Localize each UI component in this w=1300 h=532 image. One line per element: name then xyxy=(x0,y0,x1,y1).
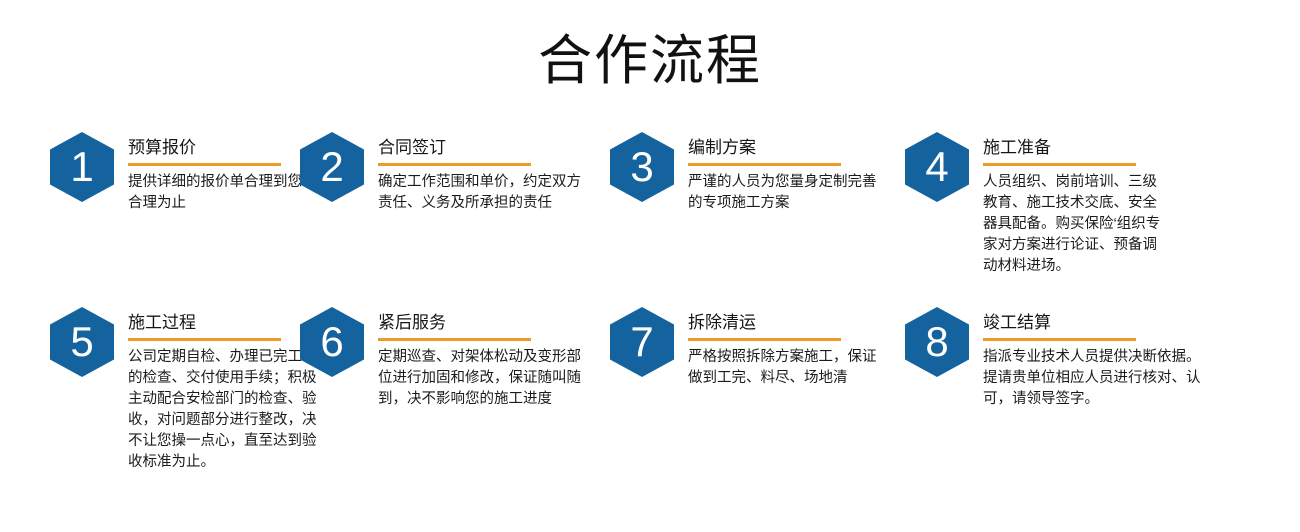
steps-grid: 1 预算报价 提供详细的报价单合理到您认为合理为止 2 合同签订 确定工作范围和… xyxy=(0,132,1300,517)
step-number-5: 5 xyxy=(50,307,114,377)
step-description-8: 指派专业技术人员提供决断依据。提请贵单位相应人员进行核对、认可，请领导签字。 xyxy=(983,347,1208,410)
step-item-7[interactable]: 7 拆除清运 严格按照拆除方案施工，保证做到工完、料尽、场地清 xyxy=(605,307,905,389)
step-divider-7 xyxy=(688,338,841,341)
step-item-2[interactable]: 2 合同签订 确定工作范围和单价，约定双方责任、义务及所承担的责任 xyxy=(300,132,605,214)
step-description-6: 定期巡查、对架体松动及变形部位进行加固和修改，保证随叫随到，决不影响您的施工进度 xyxy=(378,347,588,410)
step-number-8: 8 xyxy=(905,307,969,377)
step-divider-8 xyxy=(983,338,1136,341)
step-divider-3 xyxy=(688,163,841,166)
hexagon-badge-1: 1 xyxy=(50,132,114,202)
step-item-4[interactable]: 4 施工准备 人员组织、岗前培训、三级教育、施工技术交底、安全器具配备。购买保险… xyxy=(905,132,1250,277)
step-item-1[interactable]: 1 预算报价 提供详细的报价单合理到您认为合理为止 xyxy=(0,132,300,214)
steps-row-2: 5 施工过程 公司定期自检、办理已完工程的检查、交付使用手续；积极主动配合安检部… xyxy=(0,307,1300,517)
step-description-7: 严格按照拆除方案施工，保证做到工完、料尽、场地清 xyxy=(688,347,888,389)
step-number-7: 7 xyxy=(610,307,674,377)
step-divider-1 xyxy=(128,163,281,166)
hexagon-badge-4: 4 xyxy=(905,132,969,202)
step-item-8[interactable]: 8 竣工结算 指派专业技术人员提供决断依据。提请贵单位相应人员进行核对、认可，请… xyxy=(905,307,1250,410)
hexagon-badge-8: 8 xyxy=(905,307,969,377)
steps-row-1: 1 预算报价 提供详细的报价单合理到您认为合理为止 2 合同签订 确定工作范围和… xyxy=(0,132,1300,307)
step-body-2: 合同签订 确定工作范围和单价，约定双方责任、义务及所承担的责任 xyxy=(378,132,605,214)
step-body-4: 施工准备 人员组织、岗前培训、三级教育、施工技术交底、安全器具配备。购买保险‘组… xyxy=(983,132,1250,277)
step-divider-6 xyxy=(378,338,531,341)
hexagon-badge-7: 7 xyxy=(610,307,674,377)
step-title-1: 预算报价 xyxy=(128,136,300,159)
step-title-8: 竣工结算 xyxy=(983,311,1250,334)
step-number-6: 6 xyxy=(300,307,364,377)
step-item-6[interactable]: 6 紧后服务 定期巡查、对架体松动及变形部位进行加固和修改，保证随叫随到，决不影… xyxy=(300,307,605,410)
cooperation-process-infographic: 合作流程 1 预算报价 提供详细的报价单合理到您认为合理为止 2 合同签订 xyxy=(0,0,1300,532)
step-title-3: 编制方案 xyxy=(688,136,905,159)
step-body-8: 竣工结算 指派专业技术人员提供决断依据。提请贵单位相应人员进行核对、认可，请领导… xyxy=(983,307,1250,410)
step-divider-4 xyxy=(983,163,1136,166)
step-description-5: 公司定期自检、办理已完工程的检查、交付使用手续；积极主动配合安检部门的检查、验收… xyxy=(128,347,323,473)
step-title-5: 施工过程 xyxy=(128,311,300,334)
step-number-4: 4 xyxy=(905,132,969,202)
step-item-3[interactable]: 3 编制方案 严谨的人员为您量身定制完善的专项施工方案 xyxy=(605,132,905,214)
step-description-3: 严谨的人员为您量身定制完善的专项施工方案 xyxy=(688,172,888,214)
step-description-4: 人员组织、岗前培训、三级教育、施工技术交底、安全器具配备。购买保险‘组织专家对方… xyxy=(983,172,1168,277)
step-number-1: 1 xyxy=(50,132,114,202)
step-number-2: 2 xyxy=(300,132,364,202)
step-body-7: 拆除清运 严格按照拆除方案施工，保证做到工完、料尽、场地清 xyxy=(688,307,905,389)
step-body-5: 施工过程 公司定期自检、办理已完工程的检查、交付使用手续；积极主动配合安检部门的… xyxy=(128,307,300,473)
page-title: 合作流程 xyxy=(0,28,1300,94)
step-item-5[interactable]: 5 施工过程 公司定期自检、办理已完工程的检查、交付使用手续；积极主动配合安检部… xyxy=(0,307,300,473)
step-title-7: 拆除清运 xyxy=(688,311,905,334)
hexagon-badge-2: 2 xyxy=(300,132,364,202)
step-divider-5 xyxy=(128,338,281,341)
step-body-3: 编制方案 严谨的人员为您量身定制完善的专项施工方案 xyxy=(688,132,905,214)
step-number-3: 3 xyxy=(610,132,674,202)
step-title-6: 紧后服务 xyxy=(378,311,605,334)
hexagon-badge-6: 6 xyxy=(300,307,364,377)
step-description-2: 确定工作范围和单价，约定双方责任、义务及所承担的责任 xyxy=(378,172,593,214)
step-body-1: 预算报价 提供详细的报价单合理到您认为合理为止 xyxy=(128,132,300,214)
step-title-4: 施工准备 xyxy=(983,136,1250,159)
step-body-6: 紧后服务 定期巡查、对架体松动及变形部位进行加固和修改，保证随叫随到，决不影响您… xyxy=(378,307,605,410)
step-title-2: 合同签订 xyxy=(378,136,605,159)
hexagon-badge-5: 5 xyxy=(50,307,114,377)
hexagon-badge-3: 3 xyxy=(610,132,674,202)
step-divider-2 xyxy=(378,163,531,166)
